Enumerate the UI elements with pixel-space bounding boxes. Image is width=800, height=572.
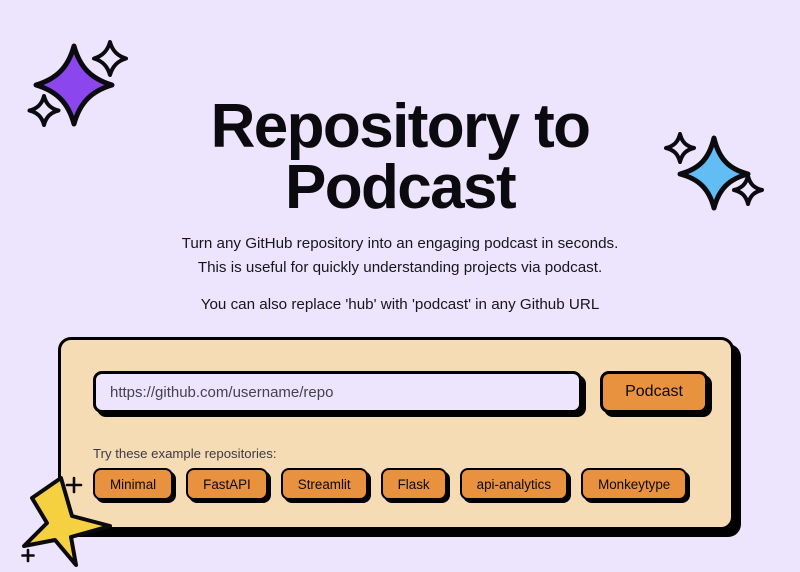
page-root: Repository to Podcast Turn any GitHub re… xyxy=(0,0,800,572)
subtitle-line-2: This is useful for quickly understanding… xyxy=(0,256,800,280)
subtitle-line-1: Turn any GitHub repository into an engag… xyxy=(0,232,800,256)
examples-label: Try these example repositories: xyxy=(93,446,276,461)
example-chip-streamlit[interactable]: Streamlit xyxy=(281,468,368,500)
repository-url-input[interactable] xyxy=(93,371,582,413)
subtitle-line-3: You can also replace 'hub' with 'podcast… xyxy=(0,293,800,317)
repository-input-card: Podcast Try these example repositories: … xyxy=(58,337,734,530)
example-chip-api-analytics[interactable]: api-analytics xyxy=(460,468,568,500)
repository-form: Podcast xyxy=(93,371,708,413)
page-title-line-1: Repository to xyxy=(0,96,800,157)
subtitle-spacer xyxy=(0,279,800,293)
page-subtitle: Turn any GitHub repository into an engag… xyxy=(0,232,800,317)
page-title: Repository to Podcast xyxy=(0,96,800,219)
generate-podcast-button[interactable]: Podcast xyxy=(600,371,708,413)
example-chip-flask[interactable]: Flask xyxy=(381,468,447,500)
example-chip-fastapi[interactable]: FastAPI xyxy=(186,468,268,500)
example-repository-chips: Minimal FastAPI Streamlit Flask api-anal… xyxy=(93,468,687,500)
example-chip-minimal[interactable]: Minimal xyxy=(93,468,173,500)
page-title-line-2: Podcast xyxy=(0,157,800,218)
example-chip-monkeytype[interactable]: Monkeytype xyxy=(581,468,687,500)
